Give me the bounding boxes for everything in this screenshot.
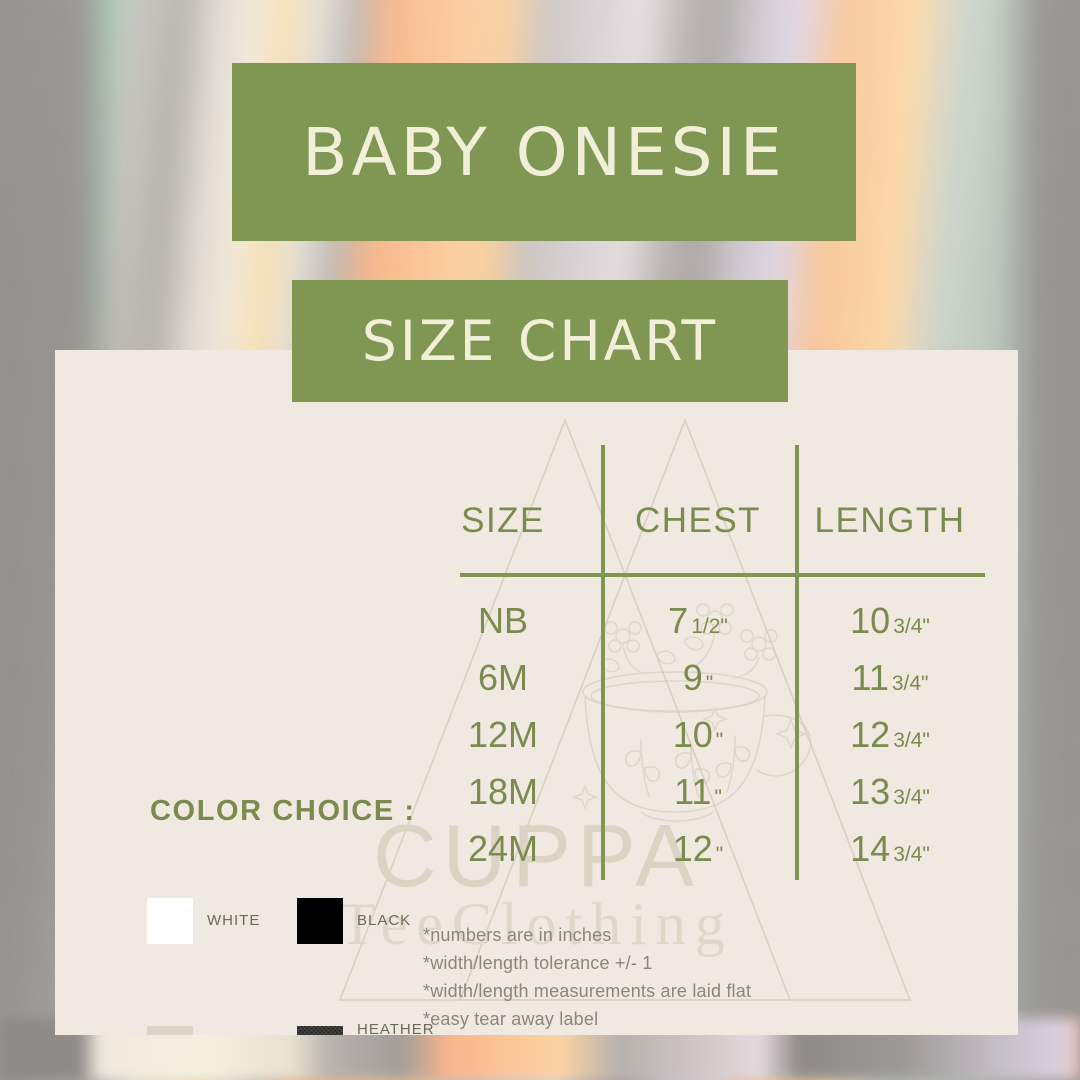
cell-chest-whole: 7 — [668, 600, 688, 642]
size-chart-graphic: CUPPA TeeClothing COLOR CHOICE : WHITE B… — [0, 0, 1080, 1080]
cell-length-whole: 12 — [850, 714, 890, 756]
info-card: CUPPA TeeClothing COLOR CHOICE : WHITE B… — [55, 350, 1018, 1035]
swatch-heather-dark-grey-icon — [297, 1026, 343, 1035]
cell-length-whole: 14 — [850, 828, 890, 870]
color-swatch-grid: WHITE BLACK NATURAL HEATHER DARK GREY — [147, 898, 447, 1035]
cell-chest-whole: 10 — [673, 714, 713, 756]
cell-chest-fraction: " — [714, 786, 721, 810]
column-header-size: SIZE — [405, 501, 601, 541]
cell-length-whole: 10 — [850, 600, 890, 642]
cell-chest: 10 " — [601, 714, 795, 756]
swatch-item-white[interactable]: WHITE — [147, 898, 297, 944]
cell-chest: 7 1/2" — [601, 600, 795, 642]
swatch-row: NATURAL HEATHER DARK GREY — [147, 1026, 447, 1035]
footnote-item: *numbers are in inches — [423, 922, 751, 950]
table-row: 18M 11 " 13 3/4" — [405, 764, 985, 820]
cell-length: 13 3/4" — [795, 771, 985, 813]
cell-chest-fraction: " — [716, 729, 723, 753]
cell-chest: 11 " — [601, 771, 795, 813]
swatch-item-natural[interactable]: NATURAL — [147, 1026, 297, 1035]
footnote-item: *width/length measurements are laid flat — [423, 978, 751, 1006]
table-row: 12M 10 " 12 3/4" — [405, 707, 985, 763]
cell-chest-fraction: " — [716, 843, 723, 867]
cell-size: 6M — [405, 657, 601, 699]
cell-length-fraction: 3/4" — [893, 729, 930, 753]
table-header-rule — [460, 573, 985, 577]
swatch-label-black: BLACK — [357, 912, 411, 931]
cell-length-fraction: 3/4" — [893, 843, 930, 867]
footnotes: *numbers are in inches *width/length tol… — [423, 922, 751, 1034]
subtitle-banner: SIZE CHART — [292, 280, 788, 402]
title-banner: BABY ONESIE — [232, 63, 856, 241]
table-row: NB 7 1/2" 10 3/4" — [405, 593, 985, 649]
cell-size: 24M — [405, 828, 601, 870]
color-choice-heading: COLOR CHOICE : — [150, 795, 416, 828]
swatch-row: WHITE BLACK — [147, 898, 447, 944]
swatch-white-icon — [147, 898, 193, 944]
footnote-item: *easy tear away label — [423, 1006, 751, 1034]
cell-chest-fraction: " — [706, 672, 713, 696]
cell-length: 10 3/4" — [795, 600, 985, 642]
cell-chest-whole: 9 — [683, 657, 703, 699]
cell-length: 14 3/4" — [795, 828, 985, 870]
column-header-length: LENGTH — [795, 501, 985, 541]
table-header-row: SIZE CHEST LENGTH — [405, 491, 985, 551]
cell-length-whole: 11 — [851, 657, 888, 699]
cell-size: NB — [405, 600, 601, 642]
size-table: SIZE CHEST LENGTH NB 7 1/2" 10 3/4" 6M 9 — [405, 445, 985, 885]
cell-length-fraction: 3/4" — [892, 672, 929, 696]
cell-chest-whole: 11 — [674, 771, 711, 813]
cell-chest-whole: 12 — [673, 828, 713, 870]
cell-length: 11 3/4" — [795, 657, 985, 699]
cell-chest: 12 " — [601, 828, 795, 870]
table-row: 24M 12 " 14 3/4" — [405, 821, 985, 877]
cell-chest-fraction: 1/2" — [691, 615, 728, 639]
cell-length: 12 3/4" — [795, 714, 985, 756]
cell-length-whole: 13 — [850, 771, 890, 813]
column-header-chest: CHEST — [601, 501, 795, 541]
footnote-item: *width/length tolerance +/- 1 — [423, 950, 751, 978]
swatch-label-white: WHITE — [207, 912, 260, 931]
swatch-natural-icon — [147, 1026, 193, 1035]
cell-length-fraction: 3/4" — [893, 615, 930, 639]
table-row: 6M 9 " 11 3/4" — [405, 650, 985, 706]
cell-chest: 9 " — [601, 657, 795, 699]
cell-length-fraction: 3/4" — [893, 786, 930, 810]
cell-size: 18M — [405, 771, 601, 813]
cell-size: 12M — [405, 714, 601, 756]
swatch-black-icon — [297, 898, 343, 944]
